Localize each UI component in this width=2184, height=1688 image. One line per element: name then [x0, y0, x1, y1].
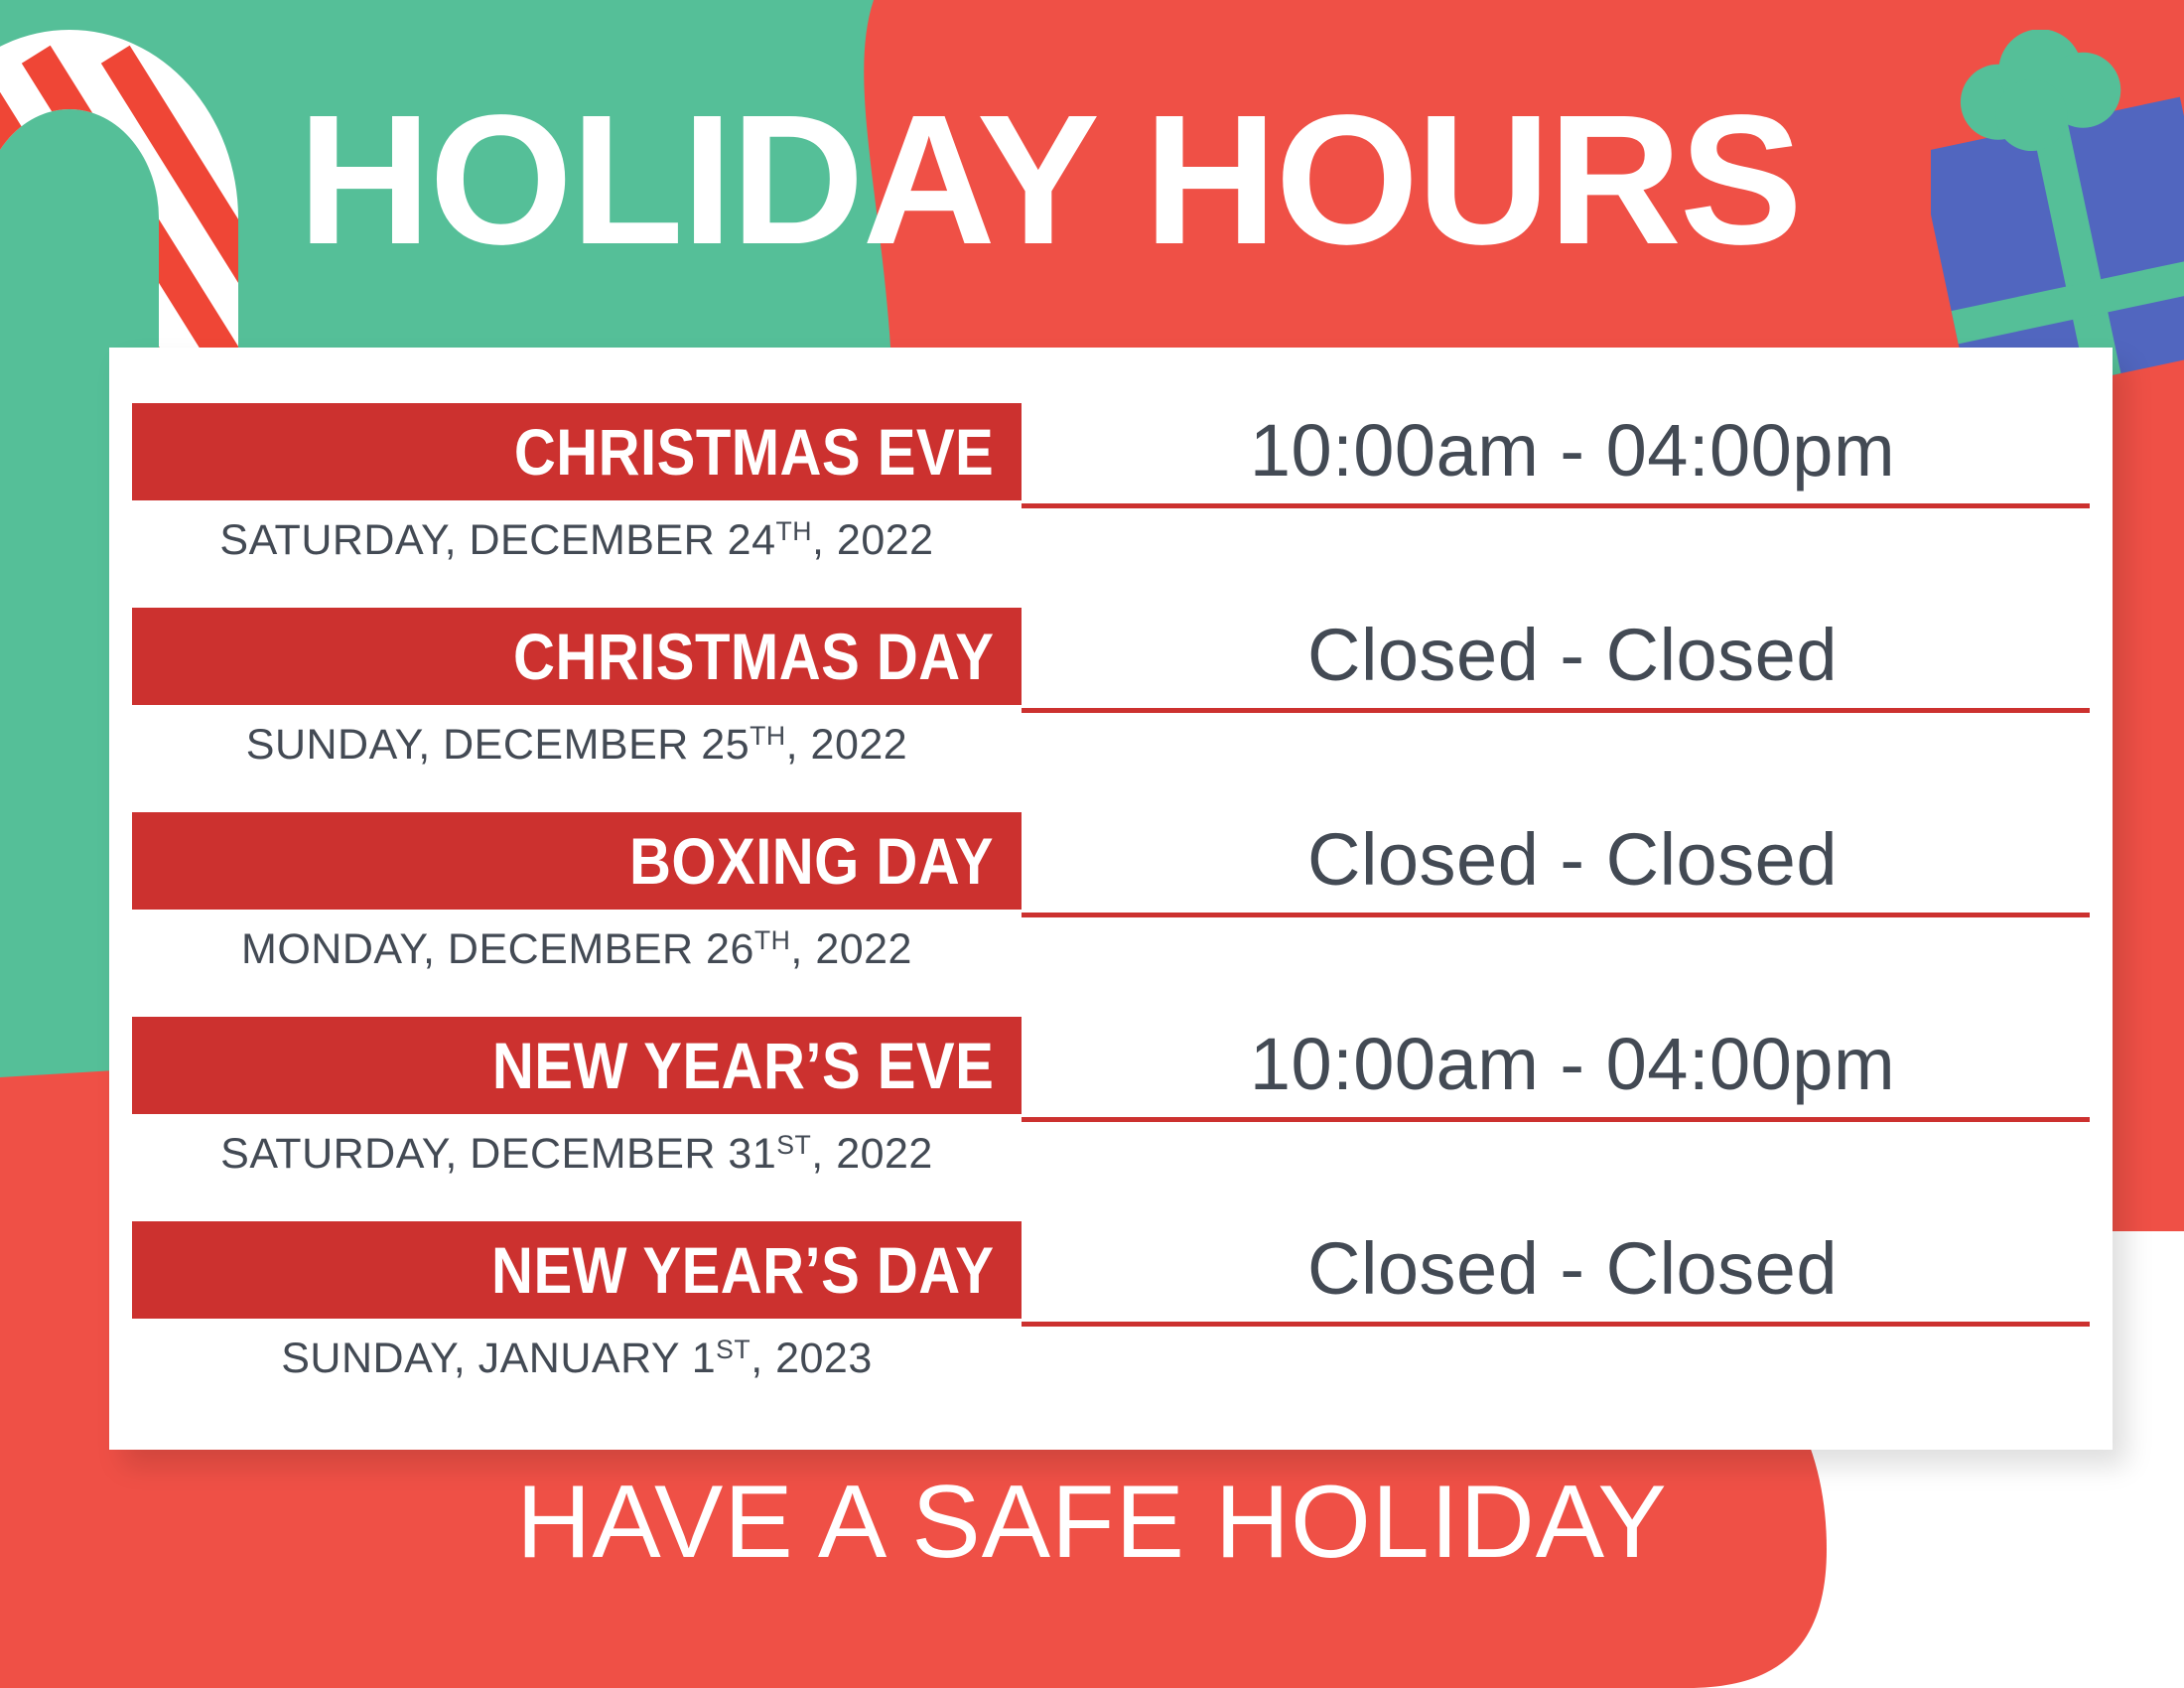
holiday-name-bar: CHRISTMAS EVE	[132, 403, 1022, 500]
holiday-date-prefix: MONDAY, DECEMBER 26	[241, 925, 754, 973]
row-divider	[1022, 1322, 2090, 1327]
holiday-name-bar: NEW YEAR’S EVE	[132, 1017, 1022, 1114]
schedule-card: CHRISTMAS EVE 10:00am - 04:00pm SATURDAY…	[109, 348, 2113, 1450]
holiday-date-ordinal: ST	[776, 1130, 811, 1160]
holiday-date-prefix: SUNDAY, JANUARY 1	[281, 1335, 716, 1382]
holiday-date-prefix: SATURDAY, DECEMBER 31	[220, 1130, 776, 1178]
holiday-date-ordinal: ST	[716, 1335, 751, 1364]
holiday-hours: Closed - Closed	[1055, 1217, 2090, 1321]
holiday-hours-poster: HOLIDAY HOURS CHRISTMAS EVE 10:00am - 04…	[0, 0, 2184, 1688]
gift-box-group	[1931, 30, 2184, 377]
holiday-date-suffix: , 2022	[812, 516, 934, 564]
holiday-date-prefix: SUNDAY, DECEMBER 25	[246, 721, 750, 769]
table-row: NEW YEAR’S EVE 10:00am - 04:00pm SATURDA…	[132, 1017, 2090, 1221]
footer-message: HAVE A SAFE HOLIDAY	[0, 1460, 2184, 1585]
table-row: CHRISTMAS DAY Closed - Closed SUNDAY, DE…	[132, 608, 2090, 812]
holiday-date: SATURDAY, DECEMBER 31ST, 2022	[132, 1126, 1022, 1182]
holiday-date: SATURDAY, DECEMBER 24TH, 2022	[132, 512, 1022, 568]
table-row: CHRISTMAS EVE 10:00am - 04:00pm SATURDAY…	[132, 403, 2090, 608]
holiday-date-suffix: , 2022	[786, 721, 908, 769]
holiday-name: CHRISTMAS EVE	[514, 417, 994, 487]
holiday-date-ordinal: TH	[754, 925, 791, 955]
holiday-date-ordinal: TH	[750, 721, 786, 751]
holiday-name: CHRISTMAS DAY	[513, 622, 994, 691]
gift-box-icon	[1931, 30, 2184, 377]
table-row: NEW YEAR’S DAY Closed - Closed SUNDAY, J…	[132, 1221, 2090, 1420]
row-divider	[1022, 913, 2090, 917]
holiday-name: NEW YEAR’S DAY	[491, 1235, 994, 1305]
holiday-date: SUNDAY, DECEMBER 25TH, 2022	[132, 717, 1022, 773]
holiday-name-bar: BOXING DAY	[132, 812, 1022, 910]
holiday-hours: Closed - Closed	[1055, 604, 2090, 707]
holiday-date-prefix: SATURDAY, DECEMBER 24	[219, 516, 775, 564]
holiday-date-suffix: , 2022	[790, 925, 912, 973]
holiday-date-ordinal: TH	[775, 516, 812, 546]
row-divider	[1022, 503, 2090, 508]
row-divider	[1022, 1117, 2090, 1122]
holiday-hours: 10:00am - 04:00pm	[1055, 399, 2090, 502]
holiday-date: MONDAY, DECEMBER 26TH, 2022	[132, 921, 1022, 977]
holiday-hours: Closed - Closed	[1055, 808, 2090, 912]
holiday-name: BOXING DAY	[629, 826, 994, 896]
schedule-rows: CHRISTMAS EVE 10:00am - 04:00pm SATURDAY…	[132, 403, 2090, 1420]
holiday-date-suffix: , 2022	[811, 1130, 933, 1178]
holiday-date: SUNDAY, JANUARY 1ST, 2023	[132, 1331, 1022, 1386]
holiday-name: NEW YEAR’S EVE	[492, 1031, 994, 1100]
page-title: HOLIDAY HOURS	[298, 81, 1926, 280]
row-divider	[1022, 708, 2090, 713]
holiday-name-bar: CHRISTMAS DAY	[132, 608, 1022, 705]
holiday-hours: 10:00am - 04:00pm	[1055, 1013, 2090, 1116]
table-row: BOXING DAY Closed - Closed MONDAY, DECEM…	[132, 812, 2090, 1017]
holiday-name-bar: NEW YEAR’S DAY	[132, 1221, 1022, 1319]
holiday-date-suffix: , 2023	[751, 1335, 873, 1382]
